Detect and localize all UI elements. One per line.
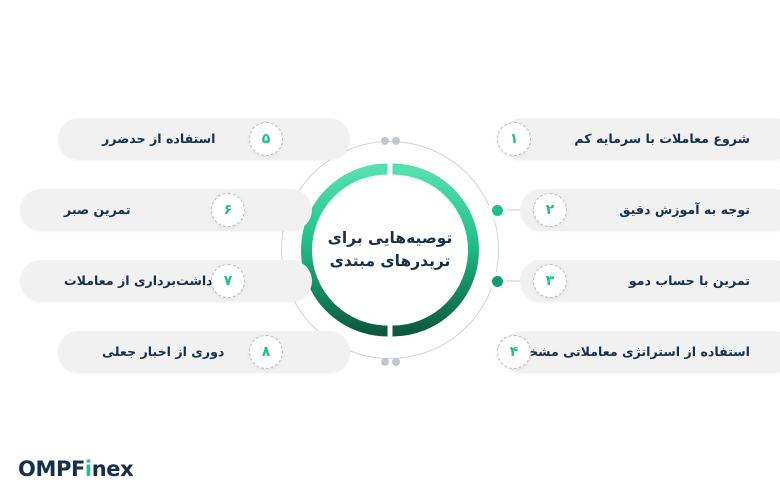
item-badge-8[interactable]: ۸ <box>249 335 283 369</box>
logo-text-accent: i <box>85 457 92 481</box>
node-dot-2 <box>492 205 503 216</box>
item-label-3: تمرین با حساب دمو <box>629 275 750 288</box>
item-badge-2[interactable]: ۲ <box>533 193 567 227</box>
item-label-1: شروع معاملات با سرمایه کم <box>574 133 750 146</box>
item-badge-7[interactable]: ۷ <box>211 264 245 298</box>
item-badge-6[interactable]: ۶ <box>211 193 245 227</box>
ompfinex-logo: OMPF i nex <box>18 457 133 481</box>
center-title-line1: توصیه‌هایی برای <box>328 227 453 250</box>
item-pill-1[interactable]: شروع معاملات با سرمایه کم <box>502 118 780 160</box>
item-pill-4[interactable]: استفاده از استراتژی معاملاتی مشخص <box>502 331 780 373</box>
item-badge-1[interactable]: ۱ <box>497 122 531 156</box>
item-pill-5[interactable]: استفاده از حدضرر <box>58 118 350 160</box>
cap-dot-top-right <box>392 137 400 145</box>
cap-dot-bottom-right <box>392 358 400 366</box>
center-title-line2: تریدرهای مبتدی <box>330 250 451 273</box>
item-pill-8[interactable]: دوری از اخبار جعلی <box>58 331 350 373</box>
item-badge-4[interactable]: ۴ <box>497 335 531 369</box>
center-title: توصیه‌هایی برای تریدرهای مبتدی <box>300 160 480 340</box>
node-dot-3 <box>492 276 503 287</box>
item-pill-7[interactable]: یادداشت‌برداری از معاملات <box>20 260 312 302</box>
infographic-stage: توصیه‌هایی برای تریدرهای مبتدی شروع معام… <box>0 0 780 503</box>
item-label-8: دوری از اخبار جعلی <box>102 346 224 359</box>
item-label-4: استفاده از استراتژی معاملاتی مشخص <box>512 346 750 359</box>
cap-dot-top-left <box>381 137 389 145</box>
logo-text-suffix: nex <box>92 457 134 481</box>
cap-dot-bottom-left <box>381 358 389 366</box>
item-pill-6[interactable]: تمرین صبر <box>20 189 312 231</box>
item-badge-3[interactable]: ۳ <box>533 264 567 298</box>
item-badge-5[interactable]: ۵ <box>249 122 283 156</box>
item-label-6: تمرین صبر <box>64 204 131 217</box>
item-label-2: توجه به آموزش دقیق <box>619 204 750 217</box>
item-label-5: استفاده از حدضرر <box>102 133 215 146</box>
item-label-7: یادداشت‌برداری از معاملات <box>64 275 229 288</box>
logo-text-primary: OMPF <box>18 457 85 481</box>
